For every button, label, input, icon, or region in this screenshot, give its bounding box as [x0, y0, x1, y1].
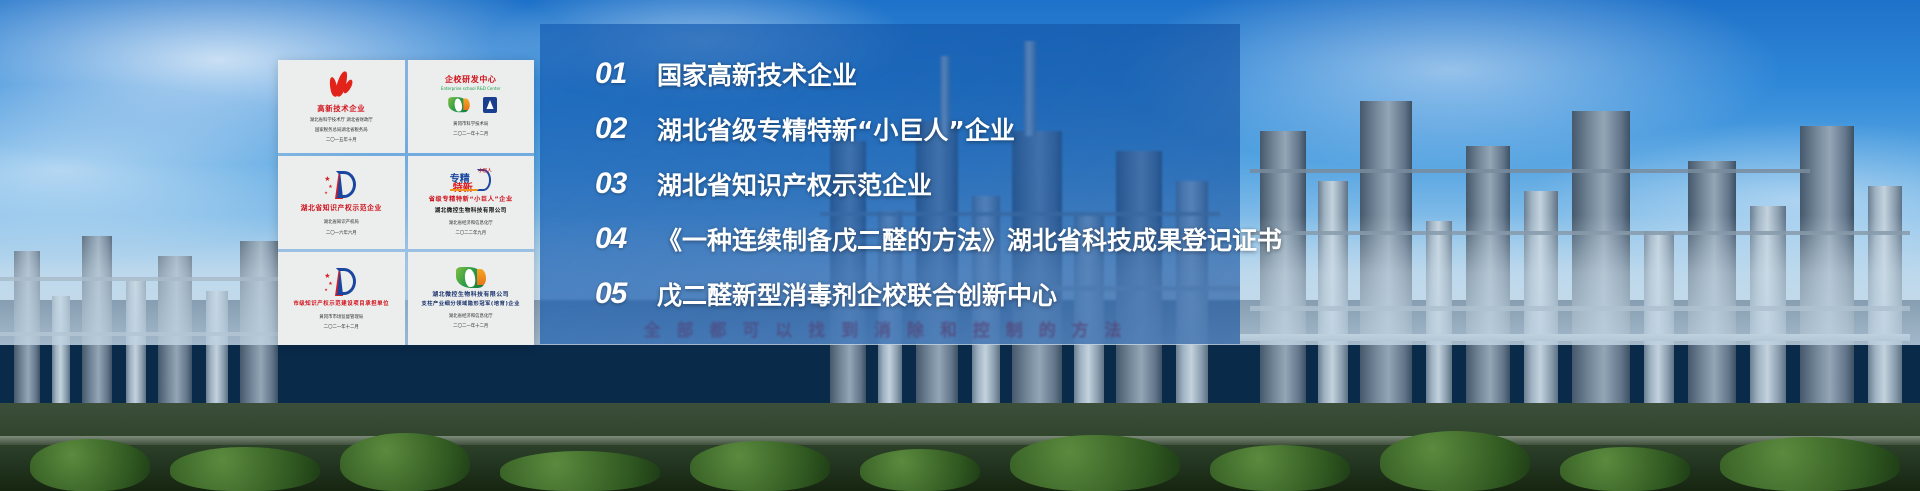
shrub: [690, 441, 830, 491]
certificate-subtitle: 黄冈市科学技术局: [453, 122, 488, 128]
highlights-list: 01 国家高新技术企业 02 湖北省级专精特新“小巨人”企业 03 湖北省知识产…: [595, 46, 1240, 321]
certificate-subtitle: 湖北省科学技术厅 湖北省财政厅: [310, 118, 373, 124]
certificate-subtitle: 二〇二一年十二月: [324, 325, 359, 331]
certificate-card[interactable]: 企校研发中心 Enterprise school R&D Center 黄冈市科…: [408, 60, 535, 153]
shrub: [30, 439, 150, 491]
certificate-subtitle: 二〇二一年十二月: [453, 324, 488, 330]
list-item-label: 国家高新技术企业: [657, 56, 857, 92]
certificate-title-en: Enterprise school R&D Center: [441, 86, 501, 92]
enterprise-rd-center-icon: [444, 94, 498, 116]
certificate-title: 支柱产业细分领域隐形冠军(培育)企业: [421, 301, 520, 308]
list-item-label: 湖北省级专精特新“小巨人”企业: [657, 111, 1015, 147]
zhuanjingtexin-icon: 专精特新 小巨人: [450, 168, 492, 194]
list-item-number: 04: [595, 222, 657, 256]
flame-icon: [326, 68, 356, 102]
certificate-title: 湖北省知识产权示范企业: [301, 204, 382, 212]
certificate-card[interactable]: ★ ★ ★ 市级知识产权示范建设项目承担单位 黄冈市市场监督管理局 二〇二一年十…: [278, 252, 405, 345]
certificate-subtitle: 国家税务总局湖北省税务局: [315, 128, 368, 134]
certificate-subtitle: 二〇二一年十二月: [453, 132, 488, 138]
banner-stage: 全 部 都 可 以 找 到 消 除 和 控 制 的 方 法 01 国家高新技术企…: [0, 0, 1920, 491]
shrub: [1210, 445, 1350, 491]
leaf-icon: [456, 266, 486, 290]
list-item-number: 05: [595, 277, 657, 311]
list-item-number: 01: [595, 57, 657, 91]
certificate-grid: 高新技术企业 湖北省科学技术厅 湖北省财政厅 国家税务总局湖北省税务局 二〇一五…: [278, 60, 534, 345]
certificate-subtitle: 湖北省知识产权局: [324, 220, 359, 226]
certificate-title: 省级专精特新“小巨人”企业: [429, 196, 513, 204]
university-emblem-icon: [482, 96, 498, 114]
list-item[interactable]: 04 《一种连续制备戊二醛的方法》湖北省科技成果登记证书: [595, 211, 1240, 266]
shrub: [500, 451, 660, 491]
list-item-number: 03: [595, 167, 657, 201]
list-item[interactable]: 02 湖北省级专精特新“小巨人”企业: [595, 101, 1240, 156]
certificate-subtitle: 二〇二二年九月: [455, 231, 486, 237]
shrub: [860, 449, 980, 491]
certificate-card[interactable]: ★ ★ ★ 湖北省知识产权示范企业 湖北省知识产权局 二〇一六年六月: [278, 156, 405, 249]
certificate-card[interactable]: 湖北微控生物科技有限公司 支柱产业细分领域隐形冠军(培育)企业 湖北省经济和信息…: [408, 252, 535, 345]
highlights-panel: 01 国家高新技术企业 02 湖北省级专精特新“小巨人”企业 03 湖北省知识产…: [540, 24, 1240, 344]
certificate-title: 市级知识产权示范建设项目承担单位: [293, 301, 389, 308]
shrub: [340, 433, 470, 491]
certificate-subtitle: 湖北省经济和信息化厅: [449, 221, 493, 227]
certificate-title: 高新技术企业: [317, 104, 365, 113]
shrub: [1560, 447, 1690, 491]
sail-ip-icon: ★ ★ ★: [324, 265, 358, 299]
road-line: [0, 436, 1920, 445]
list-item-label: 《一种连续制备戊二醛的方法》湖北省科技成果登记证书: [657, 221, 1282, 257]
certificate-title: 企校研发中心: [445, 75, 497, 85]
shrub: [1380, 431, 1530, 491]
shrub: [1010, 435, 1180, 491]
list-item-label: 湖北省知识产权示范企业: [657, 166, 932, 202]
list-item[interactable]: 03 湖北省知识产权示范企业: [595, 156, 1240, 211]
certificate-company: 湖北微控生物科技有限公司: [435, 207, 507, 215]
certificate-subtitle: 二〇一五年十月: [326, 138, 357, 144]
certificate-company: 湖北微控生物科技有限公司: [432, 292, 509, 299]
list-item[interactable]: 05 戊二醛新型消毒剂企校联合创新中心: [595, 266, 1240, 321]
shrub: [1720, 437, 1900, 491]
certificate-card[interactable]: 专精特新 小巨人 省级专精特新“小巨人”企业 湖北微控生物科技有限公司 湖北省经…: [408, 156, 535, 249]
sail-ip-icon: ★ ★ ★: [324, 168, 358, 202]
shrub: [170, 447, 320, 491]
certificate-subtitle: 二〇一六年六月: [326, 231, 357, 237]
list-item[interactable]: 01 国家高新技术企业: [595, 46, 1240, 101]
certificate-subtitle: 黄冈市市场监督管理局: [319, 315, 363, 321]
certificate-subtitle: 湖北省经济和信息化厅: [449, 314, 493, 320]
certificate-card[interactable]: 高新技术企业 湖北省科学技术厅 湖北省财政厅 国家税务总局湖北省税务局 二〇一五…: [278, 60, 405, 153]
list-item-label: 戊二醛新型消毒剂企校联合创新中心: [657, 276, 1057, 312]
list-item-number: 02: [595, 112, 657, 146]
